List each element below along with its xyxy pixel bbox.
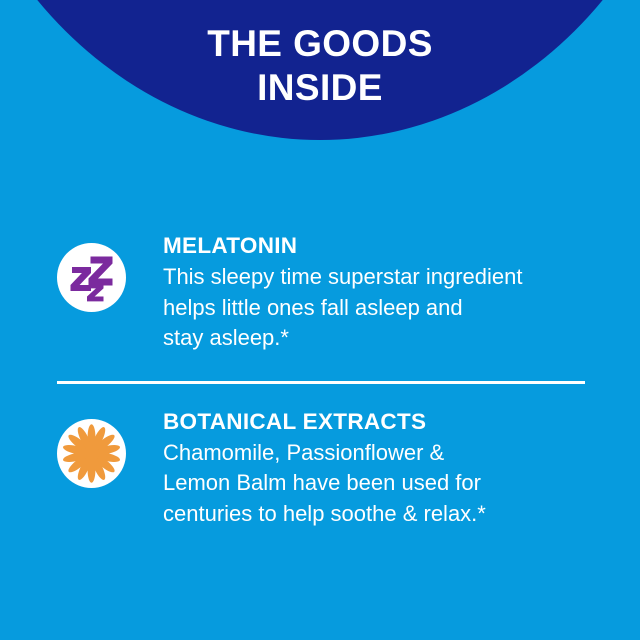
daisy-flower-icon: [57, 419, 126, 488]
promo-panel: THE GOODS INSIDE MELATONIN This sleepy t…: [0, 0, 640, 640]
header-banner: THE GOODS INSIDE: [0, 0, 640, 140]
feature-title: MELATONIN: [163, 232, 600, 260]
feature-body: This sleepy time superstar ingredient he…: [163, 262, 600, 354]
feature-body: Chamomile, Passionflower & Lemon Balm ha…: [163, 438, 600, 530]
list-item: BOTANICAL EXTRACTS Chamomile, Passionflo…: [0, 408, 640, 530]
list-item: MELATONIN This sleepy time superstar ing…: [0, 232, 640, 354]
feature-list: MELATONIN This sleepy time superstar ing…: [0, 232, 640, 529]
feature-text-block: BOTANICAL EXTRACTS Chamomile, Passionflo…: [126, 408, 600, 530]
sleep-zzz-icon: [57, 243, 126, 312]
feature-title: BOTANICAL EXTRACTS: [163, 408, 600, 436]
feature-text-block: MELATONIN This sleepy time superstar ing…: [126, 232, 600, 354]
page-title: THE GOODS INSIDE: [0, 22, 640, 110]
